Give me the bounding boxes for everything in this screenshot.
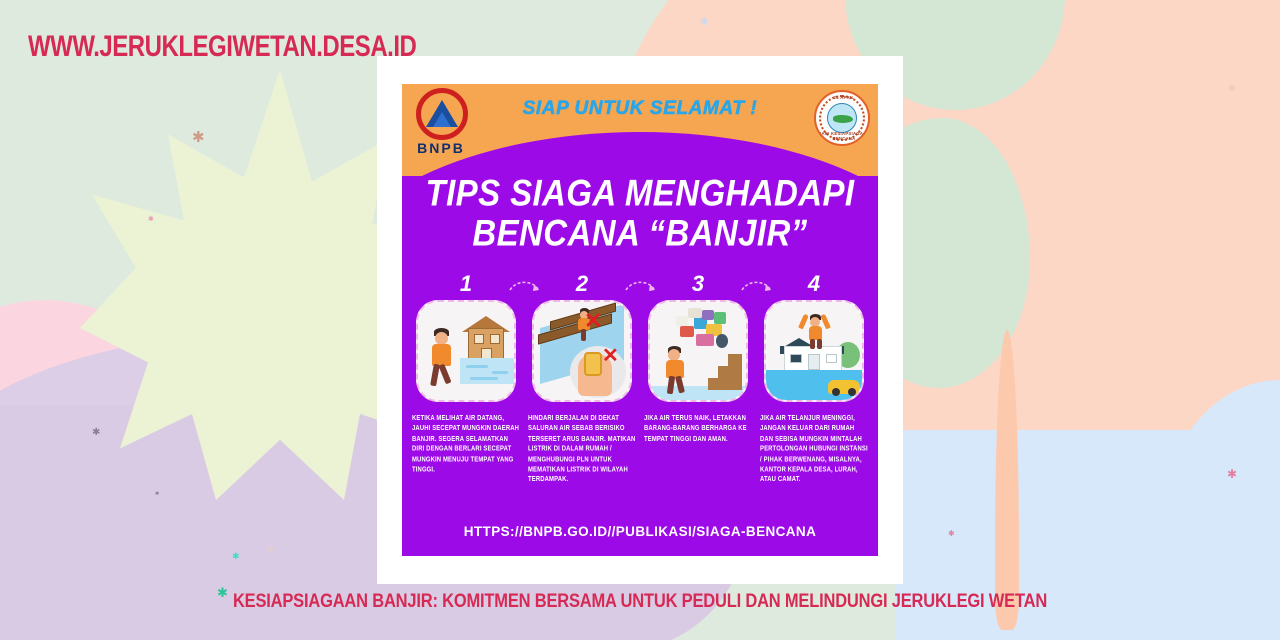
stair-step-2 xyxy=(718,366,742,378)
step-illustration-1 xyxy=(416,300,516,402)
star-decoration-7: ✱ xyxy=(268,546,275,554)
star-decoration-5: ✱ xyxy=(232,552,240,561)
flood-preparedness-poster: BNPB SIAP UNTUK SELAMAT ! 26 APRIL HARI … xyxy=(402,84,878,556)
step-number-3: 3 xyxy=(644,272,752,296)
pile-item-4 xyxy=(688,308,702,318)
pile-item-7 xyxy=(676,316,688,326)
stay-on-roof-call-for-help-icon xyxy=(766,302,862,400)
bnpb-logo-label: BNPB xyxy=(408,140,474,156)
screenshot-canvas: ✱ ✱ ✱ ✱ ✱ ✱ ✱ ✱ ✱ ✱ ✱ WWW.JERUKLEGIWETAN… xyxy=(0,0,1280,640)
star-decoration-10: ✱ xyxy=(700,18,708,28)
step-texts-row: KETIKA MELIHAT AIR DATANG, JAUHI SECEPAT… xyxy=(412,414,868,520)
pile-item-8 xyxy=(696,334,714,346)
poster-tagline: SIAP UNTUK SELAMAT ! xyxy=(402,98,878,120)
house-window-4 xyxy=(790,354,802,363)
house-window-1 xyxy=(474,334,484,344)
person4-torso xyxy=(809,326,822,340)
car-wheel-2 xyxy=(848,388,856,396)
pile-item-1 xyxy=(680,326,694,337)
house-door-4 xyxy=(808,354,820,370)
poster-white-frame: BNPB SIAP UNTUK SELAMAT ! 26 APRIL HARI … xyxy=(377,56,903,584)
move-valuables-upstairs-icon xyxy=(650,302,746,400)
star-decoration-1: ✱ xyxy=(192,130,205,145)
poster-title: TIPS SIAGA MENGHADAPI BENCANA “BANJIR” xyxy=(402,176,878,249)
step-illustration-3 xyxy=(648,300,748,402)
poster-source-url: HTTPS://BNPB.GO.ID//PUBLIKASI/SIAGA-BENC… xyxy=(402,524,878,539)
water-wave-1 xyxy=(466,365,488,368)
step-card-1: 1 xyxy=(412,272,520,412)
site-watermark: WWW.JERUKLEGIWETAN.DESA.ID xyxy=(28,30,416,64)
step-card-3: 3 xyxy=(644,272,752,412)
step-number-2: 2 xyxy=(528,272,636,296)
hkb-seal-land-icon xyxy=(833,115,853,123)
step-number-4: 4 xyxy=(760,272,868,296)
person4-leg-2 xyxy=(817,339,822,349)
step-cards-row: 1 xyxy=(412,272,868,412)
avoid-water-channel-and-electricity-icon: ✕ ✕ xyxy=(534,302,630,400)
hkb-seal-text-bottom: HARI KESIAPSIAGAAN BENCANA xyxy=(816,131,870,141)
article-caption: KESIAPSIAGAAN BANJIR: KOMITMEN BERSAMA U… xyxy=(0,590,1280,613)
belongings-pile-icon xyxy=(676,308,732,360)
prohibited-mark-electricity: ✕ xyxy=(602,346,619,366)
water-wave-2 xyxy=(492,371,508,374)
star-decoration-3: ✱ xyxy=(92,428,100,438)
person-torso xyxy=(432,344,451,366)
power-switch-icon xyxy=(584,352,602,376)
person-running-from-flooded-house-icon xyxy=(418,302,514,400)
step-illustration-2: ✕ ✕ xyxy=(532,300,632,402)
step-illustration-4 xyxy=(764,300,864,402)
house-window-5 xyxy=(826,354,837,363)
step-number-1: 1 xyxy=(412,272,520,296)
pile-item-6 xyxy=(714,312,726,324)
star-decoration-9: ✱ xyxy=(948,530,955,538)
hkb-seal-globe-icon xyxy=(827,103,857,133)
step-card-2: 2 ✕ xyxy=(528,272,636,412)
prohibited-mark-plank: ✕ xyxy=(584,310,602,332)
hkb-seal-logo: 26 APRIL HARI KESIAPSIAGAAN BENCANA xyxy=(814,90,870,146)
pile-item-5 xyxy=(702,310,714,320)
star-decoration-4: ✱ xyxy=(155,492,159,497)
poster-title-line-1: TIPS SIAGA MENGHADAPI xyxy=(402,174,878,212)
water-wave-3 xyxy=(470,377,498,380)
hkb-seal-text-top: 26 APRIL xyxy=(816,95,870,100)
car-wheel-1 xyxy=(832,388,840,396)
star-decoration-2: ✱ xyxy=(148,216,154,223)
person4-leg-1 xyxy=(810,339,815,349)
pile-item-9 xyxy=(716,334,728,348)
house-window-2 xyxy=(490,334,500,344)
poster-title-line-2: BENCANA “BANJIR” xyxy=(402,214,878,252)
star-decoration-8: ✱ xyxy=(1227,468,1237,480)
step-card-4: 4 xyxy=(760,272,868,412)
poster-header: BNPB SIAP UNTUK SELAMAT ! 26 APRIL HARI … xyxy=(402,84,878,176)
star-decoration-11: ✱ xyxy=(1228,84,1236,93)
person-leg-2 xyxy=(438,364,451,385)
stair-step-1 xyxy=(708,378,742,390)
submerged-car-icon xyxy=(828,380,860,394)
